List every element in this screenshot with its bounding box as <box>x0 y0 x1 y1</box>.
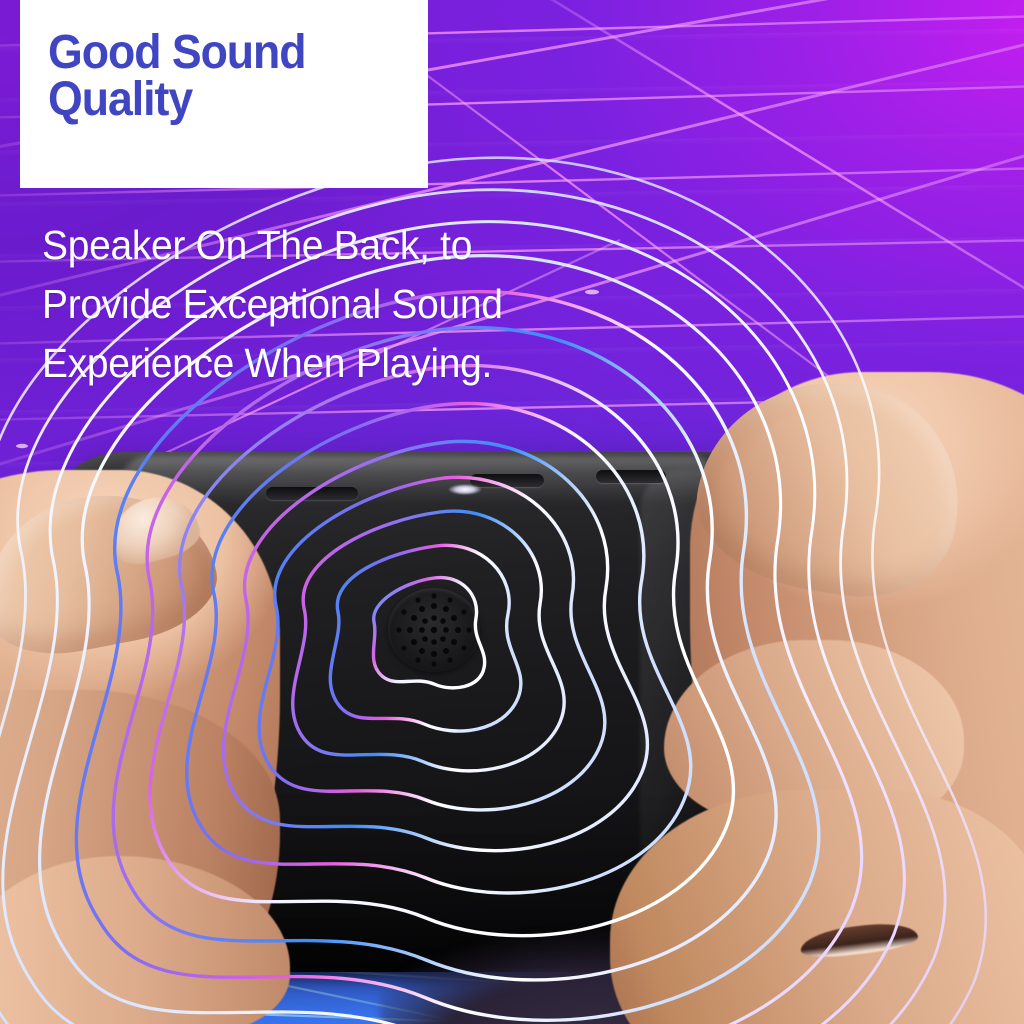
page-title: Good Sound Quality <box>48 30 383 123</box>
headline-card: Good Sound Quality <box>20 0 428 188</box>
promo-banner: Good Sound Quality Speaker On The Back, … <box>0 0 1024 1024</box>
subtitle-text: Speaker On The Back, to Provide Exceptio… <box>42 216 631 393</box>
